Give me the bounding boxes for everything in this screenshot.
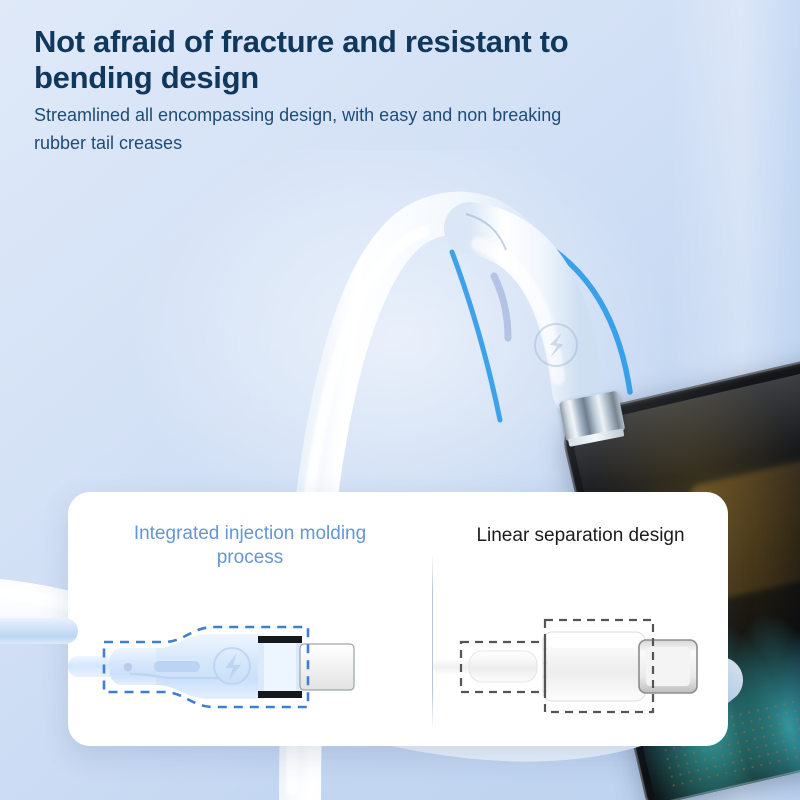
body-groove: [154, 661, 200, 672]
page-title: Not afraid of fracture and resistant to …: [34, 24, 624, 96]
metal-connector-tip: [559, 391, 626, 442]
motion-arc-right-inner: [524, 268, 600, 394]
feature-card: Integrated injection molding process: [68, 492, 728, 746]
strain-relief-segment: [469, 651, 537, 682]
panel-integrated-injection: Integrated injection molding process: [68, 492, 432, 746]
product-feature-image: Not afraid of fracture and resistant to …: [0, 0, 800, 800]
diagram-linear-connector: [433, 604, 728, 724]
lightning-bolt-icon: [531, 320, 581, 370]
connector-head-highlight: [478, 244, 558, 378]
panel-title-linear: Linear separation design: [433, 524, 728, 548]
indicator-dot: [124, 663, 132, 671]
diagram-integrated-connector: [68, 612, 432, 722]
head-accent-stripe: [494, 276, 508, 338]
motion-arc-left: [452, 252, 500, 420]
page-subtitle: Streamlined all encompassing design, wit…: [34, 102, 574, 158]
panel-linear-separation: Linear separation design: [433, 492, 728, 746]
collar-band-bottom: [258, 691, 302, 698]
connector-seam: [466, 214, 506, 250]
panel-title-integrated: Integrated injection molding process: [68, 522, 432, 571]
cable-entering-card: [0, 618, 78, 644]
collar-band-top: [258, 636, 302, 643]
motion-arc-right-outer: [520, 232, 630, 392]
cable-connector-head: [470, 228, 578, 390]
